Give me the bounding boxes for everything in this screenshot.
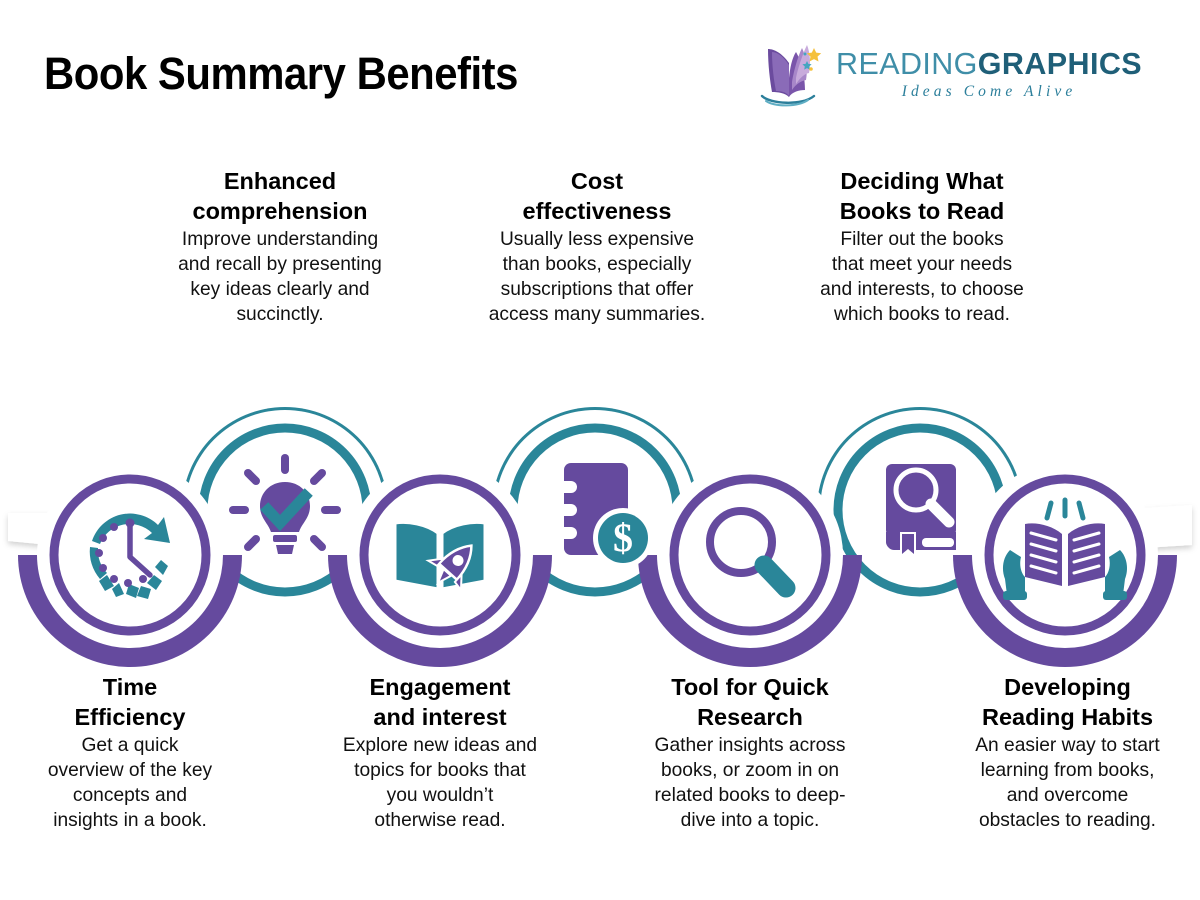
block-body: Usually less expensive than books, espec… <box>452 228 742 328</box>
block-body: Gather insights across books, or zoom in… <box>625 734 875 834</box>
svg-text:$: $ <box>613 515 633 560</box>
block-time-efficiency: Time Efficiency Get a quick overview of … <box>5 672 255 834</box>
block-title: Deciding What Books to Read <box>777 166 1067 226</box>
block-deciding-what-books-to-read: Deciding What Books to Read Filter out t… <box>777 166 1067 328</box>
block-cost-effectiveness: Cost effectiveness Usually less expensiv… <box>452 166 742 328</box>
logo-word-graphics: GRAPHICS <box>978 47 1142 81</box>
open-book-stars-logo-icon <box>758 40 824 110</box>
logo-tagline: Ideas Come Alive <box>902 83 1077 101</box>
block-title: Tool for Quick Research <box>625 672 875 732</box>
block-body: Explore new ideas and topics for books t… <box>315 734 565 834</box>
block-body: Filter out the books that meet your need… <box>777 228 1067 328</box>
readingraphics-logo: READINGGRAPHICS Ideas Come Alive <box>758 40 1142 110</box>
block-title: Enhanced comprehension <box>135 166 425 226</box>
block-title: Developing Reading Habits <box>940 672 1195 732</box>
block-developing-reading-habits: Developing Reading Habits An easier way … <box>940 672 1195 834</box>
logo-wordmark: READINGGRAPHICS <box>836 49 1142 80</box>
block-enhanced-comprehension: Enhanced comprehension Improve understan… <box>135 166 425 328</box>
arches-svg: $ <box>0 355 1200 675</box>
infographic-page: Book Summary Benefits READINGGRAPHICS Id… <box>0 0 1200 900</box>
block-title: Engagement and interest <box>315 672 565 732</box>
page-title: Book Summary Benefits <box>44 48 518 100</box>
block-engagement-and-interest: Engagement and interest Explore new idea… <box>315 672 565 834</box>
block-tool-for-quick-research: Tool for Quick Research Gather insights … <box>625 672 875 834</box>
book-magnifier-icon <box>886 464 956 558</box>
arch-icon-diagram: $ <box>0 355 1200 675</box>
block-body: Improve understanding and recall by pres… <box>135 228 425 328</box>
block-body: An easier way to start learning from boo… <box>940 734 1195 834</box>
logo-word-reading: READING <box>836 47 978 81</box>
block-title: Cost effectiveness <box>452 166 742 226</box>
block-body: Get a quick overview of the key concepts… <box>5 734 255 834</box>
block-title: Time Efficiency <box>5 672 255 732</box>
